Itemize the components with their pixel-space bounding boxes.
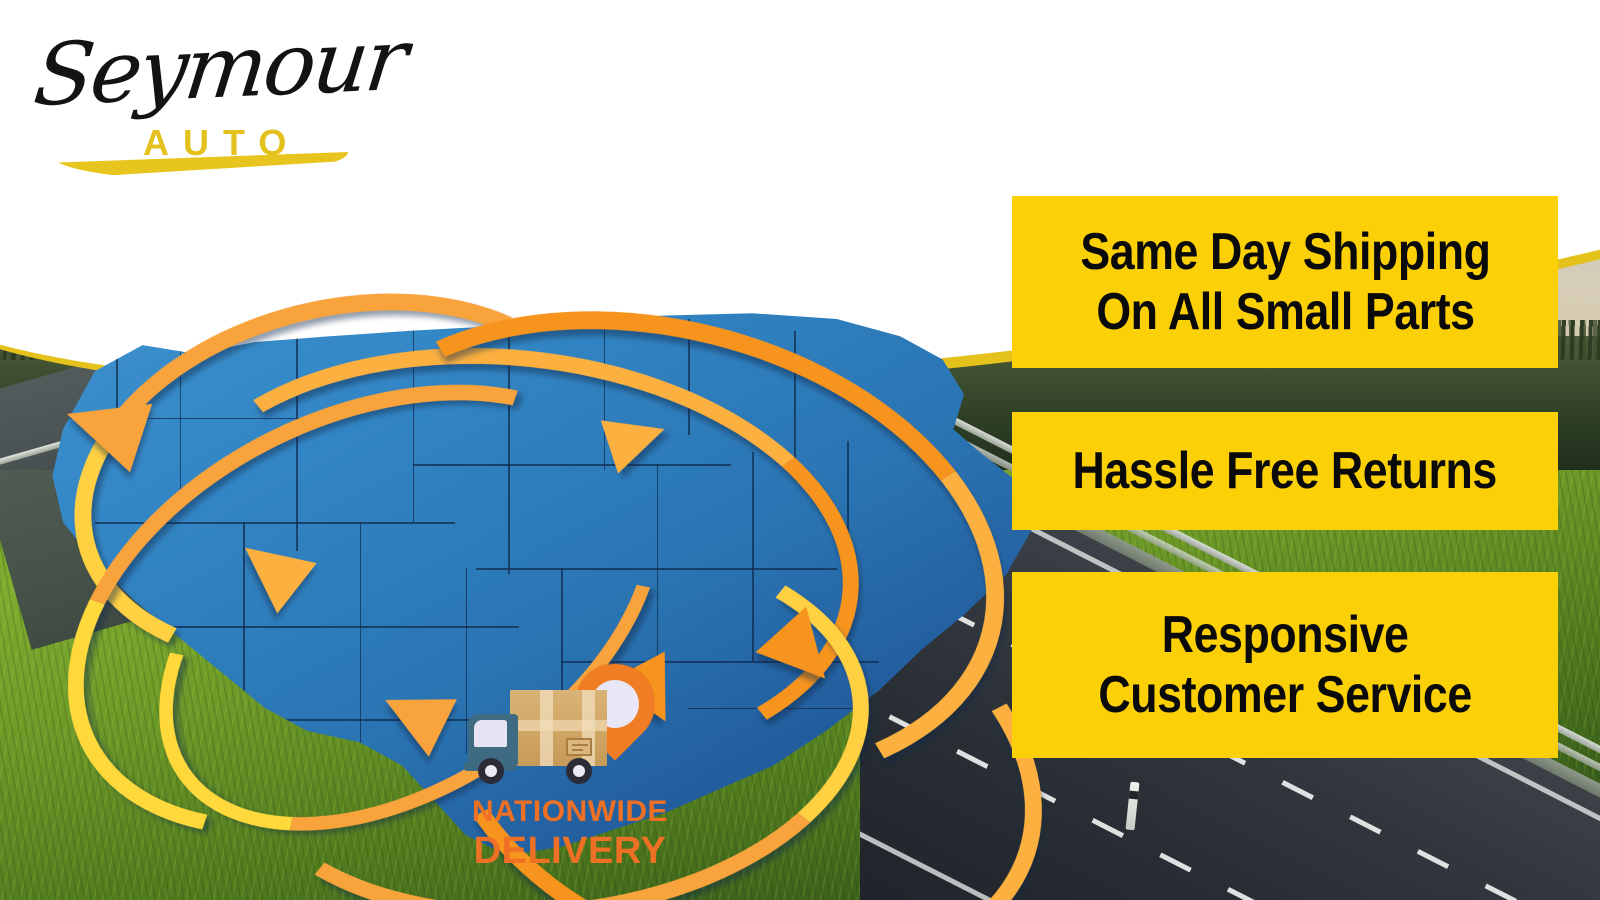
brand-subtitle: AUTO: [143, 122, 300, 164]
caption-line-1: NATIONWIDE: [440, 797, 700, 827]
nationwide-delivery-caption: NATIONWIDE DELIVERY: [440, 797, 700, 870]
truck-wheel: [478, 758, 504, 784]
feature-banner-text: Responsive Customer Service: [1098, 605, 1471, 726]
promo-banner-canvas: Seymour AUTO: [0, 0, 1600, 900]
brand-name: Seymour: [29, 10, 410, 126]
shipping-label-icon: [566, 738, 592, 756]
seymour-auto-logo[interactable]: Seymour AUTO: [28, 22, 358, 172]
caption-line-2: DELIVERY: [440, 832, 700, 870]
feature-banner-responsive-customer-service[interactable]: Responsive Customer Service: [1012, 572, 1558, 758]
box-tape-horizontal: [510, 720, 607, 731]
feature-banner-same-day-shipping[interactable]: Same Day Shipping On All Small Parts: [1012, 196, 1558, 368]
nationwide-delivery-map: NATIONWIDE DELIVERY: [10, 290, 1070, 870]
feature-banner-text: Same Day Shipping On All Small Parts: [1080, 222, 1490, 343]
truck-window: [474, 720, 507, 747]
feature-banner-hassle-free-returns[interactable]: Hassle Free Returns: [1012, 412, 1558, 530]
delivery-truck-graphic: NATIONWIDE DELIVERY: [462, 662, 672, 872]
truck-wheel: [566, 758, 592, 784]
feature-banner-text: Hassle Free Returns: [1073, 441, 1497, 501]
